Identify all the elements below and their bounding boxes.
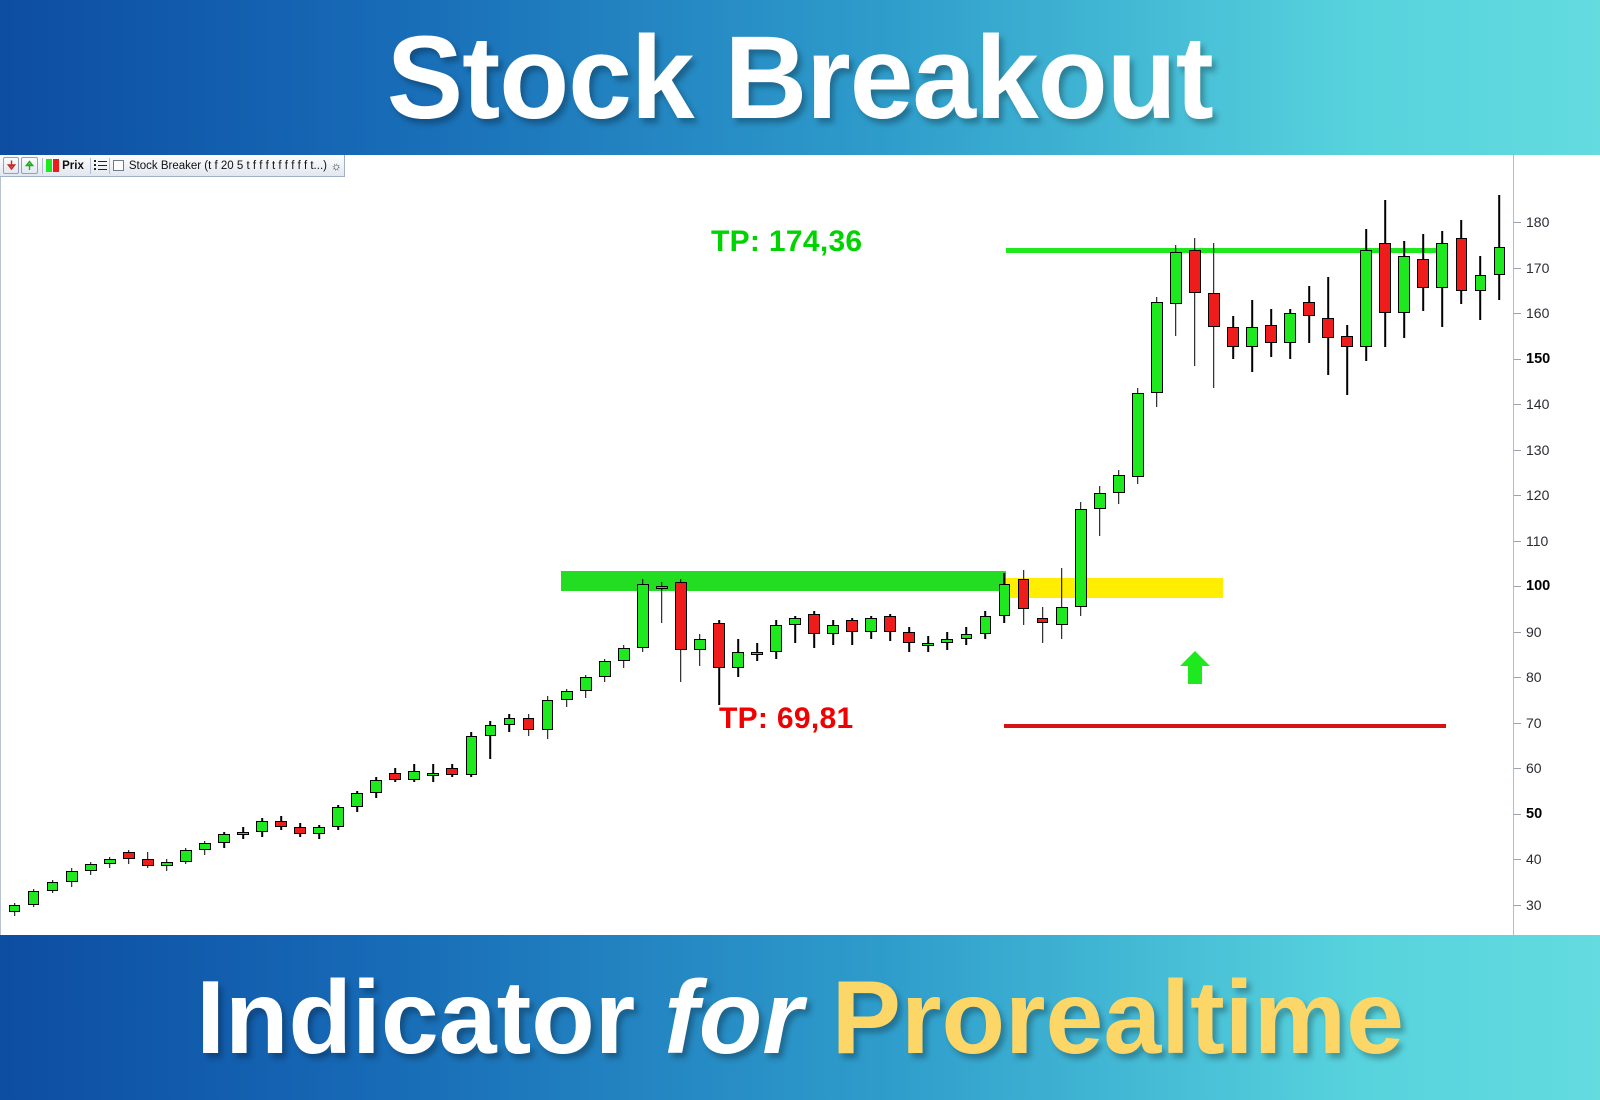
toolbar-divider-2 bbox=[90, 158, 91, 174]
candlestick bbox=[580, 675, 592, 698]
candlestick bbox=[1379, 200, 1391, 348]
candlestick bbox=[980, 611, 992, 638]
axis-tick bbox=[1514, 723, 1521, 724]
candle-body bbox=[9, 905, 21, 912]
candle-body bbox=[1246, 327, 1258, 347]
candlestick bbox=[1075, 502, 1087, 616]
candle-body bbox=[256, 821, 268, 832]
axis-tick-label: 90 bbox=[1526, 624, 1542, 640]
candlestick bbox=[313, 825, 325, 839]
candle-body bbox=[1151, 302, 1163, 393]
candlestick bbox=[675, 579, 687, 681]
axis-tick bbox=[1514, 859, 1521, 860]
candlestick bbox=[1398, 241, 1410, 339]
candle-body bbox=[1094, 493, 1106, 509]
candlestick bbox=[1456, 220, 1468, 304]
candlestick bbox=[523, 714, 535, 737]
toolbar-divider bbox=[42, 158, 43, 174]
candle-body bbox=[941, 639, 953, 644]
candlestick bbox=[408, 764, 420, 782]
candle-body bbox=[808, 614, 820, 634]
candle-body bbox=[408, 771, 420, 780]
candle-body bbox=[85, 864, 97, 871]
price-label: Prix bbox=[59, 160, 87, 172]
candle-body bbox=[370, 780, 382, 794]
candle-body bbox=[1208, 293, 1220, 327]
candlestick bbox=[789, 616, 801, 643]
axis-tick bbox=[1514, 404, 1521, 405]
axis-tick-label: 80 bbox=[1526, 669, 1542, 685]
candlestick bbox=[142, 852, 154, 868]
candle-body bbox=[1132, 393, 1144, 477]
candle-body bbox=[313, 827, 325, 834]
candlestick bbox=[66, 868, 78, 886]
candle-body bbox=[1303, 302, 1315, 316]
candlestick bbox=[1284, 309, 1296, 359]
candle-icon[interactable] bbox=[46, 159, 59, 172]
candlestick bbox=[903, 627, 915, 652]
candlestick bbox=[961, 627, 973, 645]
price-axis: 3040506070809010011012013014015016017018… bbox=[1513, 155, 1600, 935]
candlestick bbox=[389, 768, 401, 782]
candle-body bbox=[580, 677, 592, 691]
stop-loss-label: TP: 69,81 bbox=[719, 702, 853, 736]
tagline-word-indicator: Indicator bbox=[196, 966, 664, 1070]
candle-body bbox=[1113, 475, 1125, 493]
candlestick bbox=[656, 582, 668, 623]
candle-body bbox=[618, 648, 630, 662]
candle-body bbox=[389, 773, 401, 780]
axis-tick bbox=[1514, 495, 1521, 496]
candlestick bbox=[199, 841, 211, 855]
candlestick bbox=[846, 618, 858, 645]
candle-body bbox=[199, 843, 211, 850]
candle-body bbox=[332, 807, 344, 827]
candlestick bbox=[1227, 316, 1239, 359]
candle-body bbox=[1265, 325, 1277, 343]
axis-tick-label: 110 bbox=[1526, 533, 1548, 549]
candlestick bbox=[161, 859, 173, 870]
candlestick bbox=[808, 611, 820, 647]
candlestick bbox=[599, 659, 611, 682]
stop-loss-line bbox=[1004, 724, 1446, 728]
axis-tick bbox=[1514, 313, 1521, 314]
candlestick bbox=[884, 614, 896, 641]
axis-tick bbox=[1514, 268, 1521, 269]
candle-body bbox=[1189, 250, 1201, 293]
candle-body bbox=[275, 821, 287, 828]
candle-body bbox=[656, 586, 668, 589]
candle-body bbox=[1170, 252, 1182, 304]
candlestick bbox=[542, 696, 554, 739]
candle-body bbox=[161, 862, 173, 867]
axis-tick-label: 100 bbox=[1526, 578, 1550, 594]
candlestick bbox=[1417, 234, 1429, 311]
candlestick bbox=[1113, 470, 1125, 504]
candle-body bbox=[66, 871, 78, 882]
candlestick bbox=[1151, 297, 1163, 406]
candle-body bbox=[446, 768, 458, 775]
axis-tick-label: 120 bbox=[1526, 487, 1549, 503]
list-icon[interactable] bbox=[94, 160, 106, 171]
candlestick bbox=[561, 689, 573, 707]
arrow-up-green-icon[interactable] bbox=[21, 157, 37, 174]
candle-body bbox=[561, 691, 573, 700]
axis-tick-label: 40 bbox=[1526, 851, 1542, 867]
candlestick bbox=[275, 816, 287, 830]
candle-body bbox=[1284, 313, 1296, 343]
candle-body bbox=[599, 661, 611, 677]
candle-body bbox=[466, 736, 478, 775]
resistance-base-band bbox=[561, 571, 1006, 591]
buy-signal-arrow bbox=[1178, 650, 1212, 691]
candle-body bbox=[1056, 607, 1068, 625]
axis-tick bbox=[1514, 768, 1521, 769]
candlestick bbox=[85, 862, 97, 876]
candlestick bbox=[1037, 607, 1049, 643]
axis-tick-label: 60 bbox=[1526, 760, 1542, 776]
candlestick bbox=[427, 764, 439, 782]
candlestick bbox=[1303, 286, 1315, 343]
candle-body bbox=[1322, 318, 1334, 338]
candle-body bbox=[713, 623, 725, 669]
candle-body bbox=[1379, 243, 1391, 314]
candlestick bbox=[1170, 245, 1182, 336]
axis-tick bbox=[1514, 814, 1521, 815]
candle-body bbox=[104, 859, 116, 864]
axis-tick-label: 140 bbox=[1526, 396, 1549, 412]
axis-tick-label: 30 bbox=[1526, 897, 1542, 913]
axis-tick-label: 150 bbox=[1526, 351, 1550, 367]
candle-body bbox=[485, 725, 497, 736]
candle-body bbox=[542, 700, 554, 730]
candle-body bbox=[903, 632, 915, 643]
candle-body bbox=[180, 850, 192, 861]
axis-tick bbox=[1514, 541, 1521, 542]
candlestick bbox=[1246, 300, 1258, 373]
candle-body bbox=[732, 652, 744, 668]
candlestick bbox=[1494, 195, 1506, 300]
axis-tick-label: 160 bbox=[1526, 305, 1549, 321]
candlestick bbox=[104, 857, 116, 868]
candlestick bbox=[1265, 309, 1277, 357]
candle-body bbox=[351, 793, 363, 807]
candle-body bbox=[1360, 250, 1372, 348]
page-title: Stock Breakout bbox=[387, 19, 1213, 137]
toolbar-divider-3 bbox=[109, 158, 110, 174]
candle-body bbox=[675, 582, 687, 650]
axis-tick bbox=[1514, 905, 1521, 906]
checkbox-icon[interactable] bbox=[113, 160, 124, 171]
candle-body bbox=[123, 852, 135, 859]
candlestick-plot[interactable]: TP: 174,36 TP: 69,81 bbox=[0, 177, 1513, 935]
candlestick bbox=[1189, 238, 1201, 365]
candle-body bbox=[1227, 327, 1239, 347]
candle-body bbox=[523, 718, 535, 729]
candle-body bbox=[1075, 509, 1087, 607]
candle-body bbox=[770, 625, 782, 652]
candle-body bbox=[1436, 243, 1448, 289]
axis-tick bbox=[1514, 222, 1521, 223]
candlestick bbox=[1132, 388, 1144, 484]
candlestick bbox=[694, 634, 706, 666]
candlestick bbox=[1360, 229, 1372, 361]
candlestick bbox=[351, 791, 363, 811]
candle-wick bbox=[1061, 568, 1063, 639]
candle-body bbox=[846, 620, 858, 631]
candlestick bbox=[865, 616, 877, 639]
candle-body bbox=[789, 618, 801, 625]
axis-tick bbox=[1514, 359, 1521, 360]
candlestick bbox=[1322, 277, 1334, 375]
candlestick bbox=[1341, 325, 1353, 396]
candlestick bbox=[1436, 231, 1448, 327]
candle-body bbox=[142, 859, 154, 866]
bottom-tagline: Indicator for Prorealtime bbox=[196, 966, 1404, 1070]
axis-tick bbox=[1514, 677, 1521, 678]
indicator-label: Stock Breaker (t f 20 5 t f f f t f f f … bbox=[129, 160, 327, 172]
axis-tick-label: 170 bbox=[1526, 260, 1549, 276]
tagline-word-prorealtime: Prorealtime bbox=[832, 966, 1404, 1070]
axis-tick-label: 180 bbox=[1526, 214, 1549, 230]
candlestick bbox=[123, 850, 135, 864]
wrench-icon[interactable]: ☼ bbox=[330, 158, 344, 174]
breakout-band bbox=[1006, 578, 1223, 598]
candle-body bbox=[1037, 618, 1049, 623]
chart-toolbar: Prix Stock Breaker (t f 20 5 t f f f t f… bbox=[0, 155, 345, 177]
axis-tick-label: 50 bbox=[1526, 806, 1542, 822]
candlestick bbox=[1018, 570, 1030, 625]
candle-body bbox=[427, 773, 439, 776]
candlestick bbox=[922, 636, 934, 652]
candlestick bbox=[1475, 256, 1487, 320]
chart-window: Prix Stock Breaker (t f 20 5 t f f f t f… bbox=[0, 155, 1600, 935]
candlestick bbox=[485, 721, 497, 760]
candlestick bbox=[466, 732, 478, 778]
bottom-banner: Indicator for Prorealtime bbox=[0, 935, 1600, 1100]
candle-body bbox=[922, 643, 934, 646]
candle-body bbox=[961, 634, 973, 639]
candlestick bbox=[1056, 568, 1068, 639]
candle-body bbox=[1494, 247, 1506, 274]
candlestick bbox=[637, 579, 649, 652]
candlestick bbox=[999, 573, 1011, 623]
candle-body bbox=[694, 639, 706, 650]
candle-body bbox=[827, 625, 839, 634]
candle-body bbox=[1456, 238, 1468, 290]
candlestick bbox=[827, 620, 839, 645]
candle-body bbox=[1341, 336, 1353, 347]
candlestick bbox=[218, 832, 230, 848]
candle-body bbox=[1018, 579, 1030, 609]
candle-wick bbox=[1042, 607, 1044, 643]
axis-tick bbox=[1514, 632, 1521, 633]
candlestick bbox=[332, 805, 344, 830]
candle-body bbox=[865, 618, 877, 632]
candle-body bbox=[637, 584, 649, 648]
candle-body bbox=[999, 584, 1011, 616]
candlestick bbox=[732, 639, 744, 678]
candle-body bbox=[980, 616, 992, 634]
candle-body bbox=[28, 891, 40, 905]
candlestick bbox=[180, 848, 192, 864]
axis-tick bbox=[1514, 586, 1521, 587]
candlestick bbox=[47, 880, 59, 894]
candle-body bbox=[751, 652, 763, 655]
candlestick bbox=[256, 818, 268, 836]
candle-body bbox=[1475, 275, 1487, 291]
candle-body bbox=[294, 827, 306, 834]
candle-body bbox=[237, 832, 249, 835]
tagline-word-for: for bbox=[664, 966, 832, 1070]
candlestick bbox=[9, 903, 21, 917]
candlestick bbox=[713, 620, 725, 704]
candle-body bbox=[884, 616, 896, 632]
candlestick bbox=[941, 632, 953, 650]
take-profit-label: TP: 174,36 bbox=[711, 225, 862, 259]
top-banner: Stock Breakout bbox=[0, 0, 1600, 155]
candlestick bbox=[1094, 486, 1106, 536]
axis-tick bbox=[1514, 450, 1521, 451]
candlestick bbox=[1208, 243, 1220, 389]
candlestick bbox=[504, 714, 516, 732]
candlestick bbox=[770, 620, 782, 659]
candlestick bbox=[446, 764, 458, 778]
arrow-down-red-icon[interactable] bbox=[3, 157, 19, 174]
candlestick bbox=[28, 889, 40, 907]
candle-body bbox=[1398, 256, 1410, 313]
candlestick bbox=[751, 643, 763, 661]
candlestick bbox=[294, 823, 306, 837]
axis-tick-label: 70 bbox=[1526, 715, 1542, 731]
candlestick bbox=[618, 645, 630, 668]
candlestick bbox=[370, 777, 382, 797]
candle-body bbox=[218, 834, 230, 843]
axis-tick-label: 130 bbox=[1526, 442, 1549, 458]
candle-body bbox=[1417, 259, 1429, 289]
candle-body bbox=[47, 882, 59, 891]
candle-body bbox=[504, 718, 516, 725]
candlestick bbox=[237, 827, 249, 838]
